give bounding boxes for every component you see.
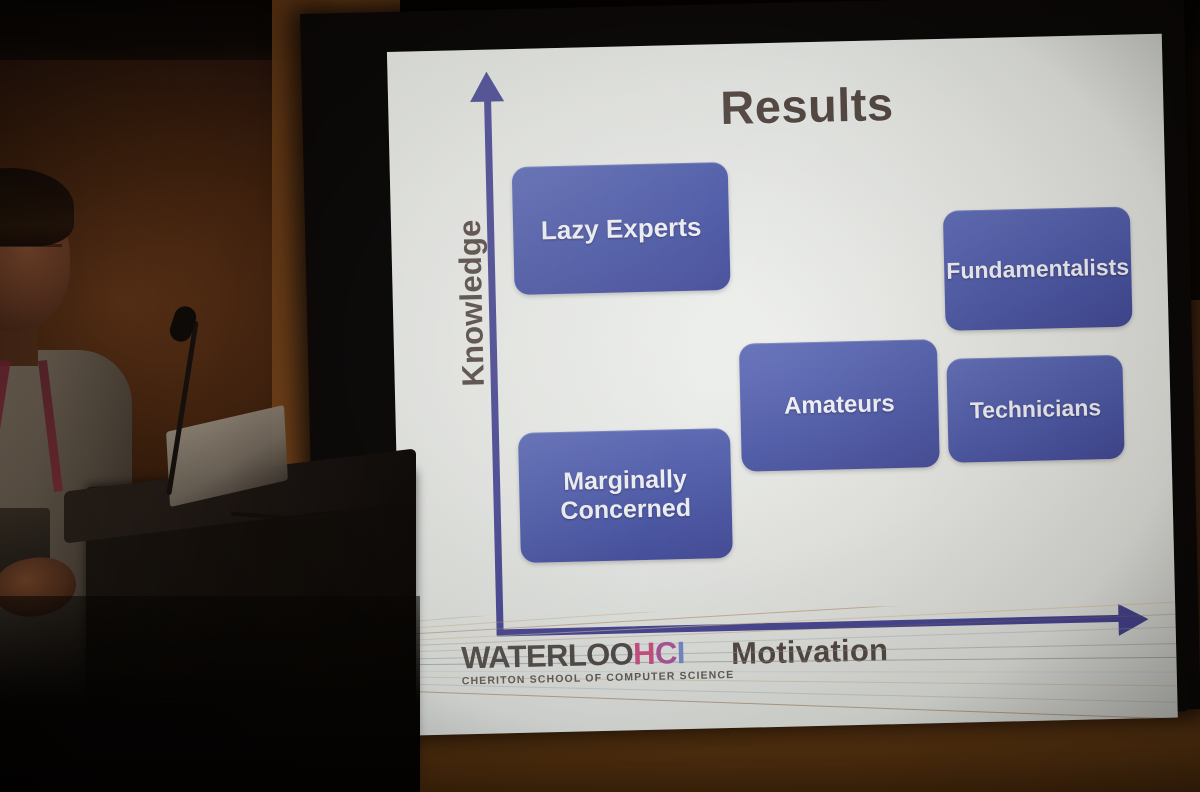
presenter-hair <box>0 168 74 246</box>
logo-waterloo-text: WATERLOO <box>461 636 634 675</box>
y-axis-label: Knowledge <box>452 208 492 399</box>
logo-h-text: H <box>633 635 656 671</box>
quadrant-box-lazy-experts: Lazy Experts <box>512 162 731 295</box>
quadrant-box-amateurs: Amateurs <box>739 339 940 472</box>
quadrant-box-label: Fundamentalists <box>938 253 1137 284</box>
slide-footer: WATERLOOHCI CHERITON SCHOOL OF COMPUTER … <box>400 600 1178 736</box>
quadrant-box-label: MarginallyConcerned <box>551 465 699 526</box>
quadrant-box-label: Amateurs <box>776 390 903 421</box>
foreground-shadow <box>0 596 420 792</box>
logo-wordmark: WATERLOOHCI <box>461 635 734 672</box>
conference-photo-scene: Results Knowledge Motivation Lazy Expert… <box>0 0 1200 792</box>
presenter-glasses <box>0 244 62 267</box>
waterloo-hci-logo: WATERLOOHCI CHERITON SCHOOL OF COMPUTER … <box>461 635 735 686</box>
quadrant-box-label: Lazy Experts <box>533 211 710 245</box>
quadrant-box-marginally-concerned: MarginallyConcerned <box>518 428 733 563</box>
logo-i-text: I <box>676 635 685 670</box>
projection-screen: Results Knowledge Motivation Lazy Expert… <box>300 0 1200 774</box>
quadrant-box-label: Technicians <box>962 394 1110 424</box>
slide-title: Results <box>720 76 895 135</box>
y-axis-arrow-icon <box>469 71 504 102</box>
quadrant-box-fundamentalists: Fundamentalists <box>943 207 1133 331</box>
quadrant-box-technicians: Technicians <box>946 355 1124 463</box>
logo-c-text: C <box>655 635 678 671</box>
projected-slide: Results Knowledge Motivation Lazy Expert… <box>387 34 1178 736</box>
